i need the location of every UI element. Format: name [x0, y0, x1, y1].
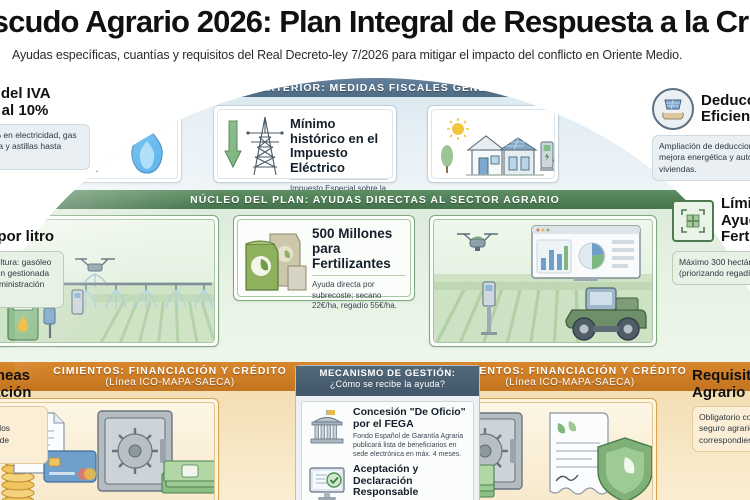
card-fertilizers: 500 Millones para Fertilizantes Ayuda di… — [233, 215, 415, 301]
layer-outer-label: CAPA EXTERIOR: MEDIDAS FISCALES GENERALE… — [0, 82, 750, 95]
callout-fertilizer-limits-body: Máximo 300 hectáreas por beneficiario (p… — [672, 251, 750, 286]
callout-gasoleo: Gasóleo Profesional: devolución por litr… — [0, 196, 64, 308]
mechanism-step-2-text: Aceptación y Declaración Responsable 15 … — [353, 464, 468, 500]
flame-icon — [126, 124, 168, 176]
layer-outer-header: CAPA EXTERIOR: MEDIDAS FISCALES GENERALE… — [0, 78, 750, 97]
mechanism-header-line1: MECANISMO DE GESTIÓN: — [296, 368, 479, 379]
page-subtitle: Ayudas específicas, cuantías y requisito… — [12, 48, 750, 62]
monitor-check-icon — [307, 464, 347, 500]
callout-gasoleo-body: Maquinaria de agricultura: gasóleo bonif… — [0, 251, 64, 309]
callout-funding-lines-body: Créditos avalados y préstamos bonificado… — [0, 406, 48, 464]
card-fertilizers-text: 500 Millones para Fertilizantes Ayuda di… — [312, 226, 406, 312]
tractor-icon — [560, 282, 652, 342]
banknote-stack-icon — [158, 455, 214, 499]
callout-iva-reduction: Reducción del IVA Energético al 10% IVA … — [0, 86, 90, 170]
card-electric-tax: Mínimo histórico en el Impuesto Eléctric… — [213, 105, 397, 183]
callout-fertilizer-limits-title: Límites de la Ayuda a Fertilizantes — [721, 196, 750, 246]
card-fertilizers-body: Ayuda directa por subrecoste; secano 22€… — [312, 280, 406, 312]
callout-funding-lines: Avales y Líneas de Financiación Créditos… — [0, 368, 48, 464]
divider — [312, 275, 406, 276]
fertilizer-bag-icon — [244, 228, 310, 290]
mechanism-step-2: Aceptación y Declaración Responsable 15 … — [307, 464, 468, 500]
callout-funding-lines-title: Avales y Líneas de Financiación — [0, 368, 48, 401]
card-core-right-illustration — [429, 215, 657, 347]
mechanism-step-1-body: Fondo Español de Garantía Agraria public… — [353, 432, 468, 459]
callout-insurance-requirement-body: Obligatorio compromiso de contratar segu… — [692, 406, 750, 452]
mechanism-header: MECANISMO DE GESTIÓN: ¿Cómo se recibe la… — [296, 366, 479, 396]
drone-icon — [452, 228, 504, 260]
callout-iva-reduction-body: IVA del 21% al 10% en electricidad, gas … — [0, 124, 90, 170]
ev-charger-icon — [478, 278, 500, 336]
mechanism-step-2-title: Aceptación y Declaración Responsable — [353, 464, 468, 499]
mechanism-step-1-title: Concesión "De Oficio" por el FEGA — [353, 407, 468, 430]
card-fertilizers-title: 500 Millones para Fertilizantes — [312, 226, 406, 271]
shield-leaf-icon — [594, 435, 652, 500]
callout-insurance-requirement-title: Requisito del Seguro Agrario — [692, 368, 750, 401]
layer-outer-fiscal: CAPA EXTERIOR: MEDIDAS FISCALES GENERALE… — [0, 78, 750, 190]
mechanism-header-line2: ¿Cómo se recibe la ayuda? — [296, 379, 479, 389]
house-solar-panel-icon — [466, 130, 544, 178]
layer-core-agrarian: NÚCLEO DEL PLAN: AYUDAS DIRECTAS AL SECT… — [0, 190, 750, 362]
scene-tractor-dashboard — [434, 220, 652, 342]
mechanism-step-1-text: Concesión "De Oficio" por el FEGA Fondo … — [353, 407, 468, 459]
page-title: Escudo Agrario 2026: Plan Integral de Re… — [0, 6, 750, 37]
callout-fertilizer-limits: Límites de la Ayuda a Fertilizantes Máxi… — [672, 196, 750, 285]
callout-efficiency-deduction: Deducciones por Eficiencia Ampliación de… — [652, 88, 750, 181]
card-electric-tax-title: Mínimo histórico en el Impuesto Eléctric… — [290, 117, 388, 175]
credit-card-icon — [42, 447, 98, 485]
arrow-down-icon — [224, 121, 242, 169]
mechanism-step-1: Concesión "De Oficio" por el FEGA Fondo … — [307, 407, 468, 459]
infographic-stage: CAPA EXTERIOR: MEDIDAS FISCALES GENERALE… — [0, 78, 750, 500]
callout-efficiency-deduction-body: Ampliación de deducciones en IRPF por me… — [652, 135, 750, 181]
mechanism-panel: MECANISMO DE GESTIÓN: ¿Cómo se recibe la… — [295, 365, 480, 500]
callout-efficiency-deduction-head: Deducciones por Eficiencia — [652, 88, 750, 130]
scene-house-solar — [432, 110, 554, 178]
mechanism-steps: Concesión "De Oficio" por el FEGA Fondo … — [301, 401, 474, 500]
callout-efficiency-deduction-title: Deducciones por Eficiencia — [701, 93, 750, 126]
ev-charger-icon — [538, 140, 554, 176]
divider — [290, 179, 388, 180]
callout-iva-reduction-title: Reducción del IVA Energético al 10% — [0, 86, 90, 119]
page-header: Escudo Agrario 2026: Plan Integral de Re… — [0, 0, 750, 78]
plug-icon — [86, 128, 120, 172]
hand-holding-solar-panel-icon — [652, 88, 694, 130]
layer-core-label: NÚCLEO DEL PLAN: AYUDAS DIRECTAS AL SECT… — [0, 194, 750, 207]
electric-pylon-icon — [242, 115, 288, 177]
analytics-dashboard-icon — [530, 224, 642, 282]
group-electric-icons — [224, 115, 286, 175]
grid-limit-icon — [672, 200, 714, 242]
layer-core-header: NÚCLEO DEL PLAN: AYUDAS DIRECTAS AL SECT… — [0, 190, 750, 209]
bank-icon — [307, 407, 347, 445]
tree-icon — [439, 144, 455, 174]
callout-insurance-requirement: Requisito del Seguro Agrario Obligatorio… — [692, 368, 750, 452]
card-self-consumption-illustration — [427, 105, 559, 183]
irrigation-sprinkler-icon — [58, 276, 214, 330]
callout-gasoleo-title: Gasóleo Profesional: devolución por litr… — [0, 196, 64, 246]
callout-fertilizer-limits-head: Límites de la Ayuda a Fertilizantes — [672, 196, 750, 246]
